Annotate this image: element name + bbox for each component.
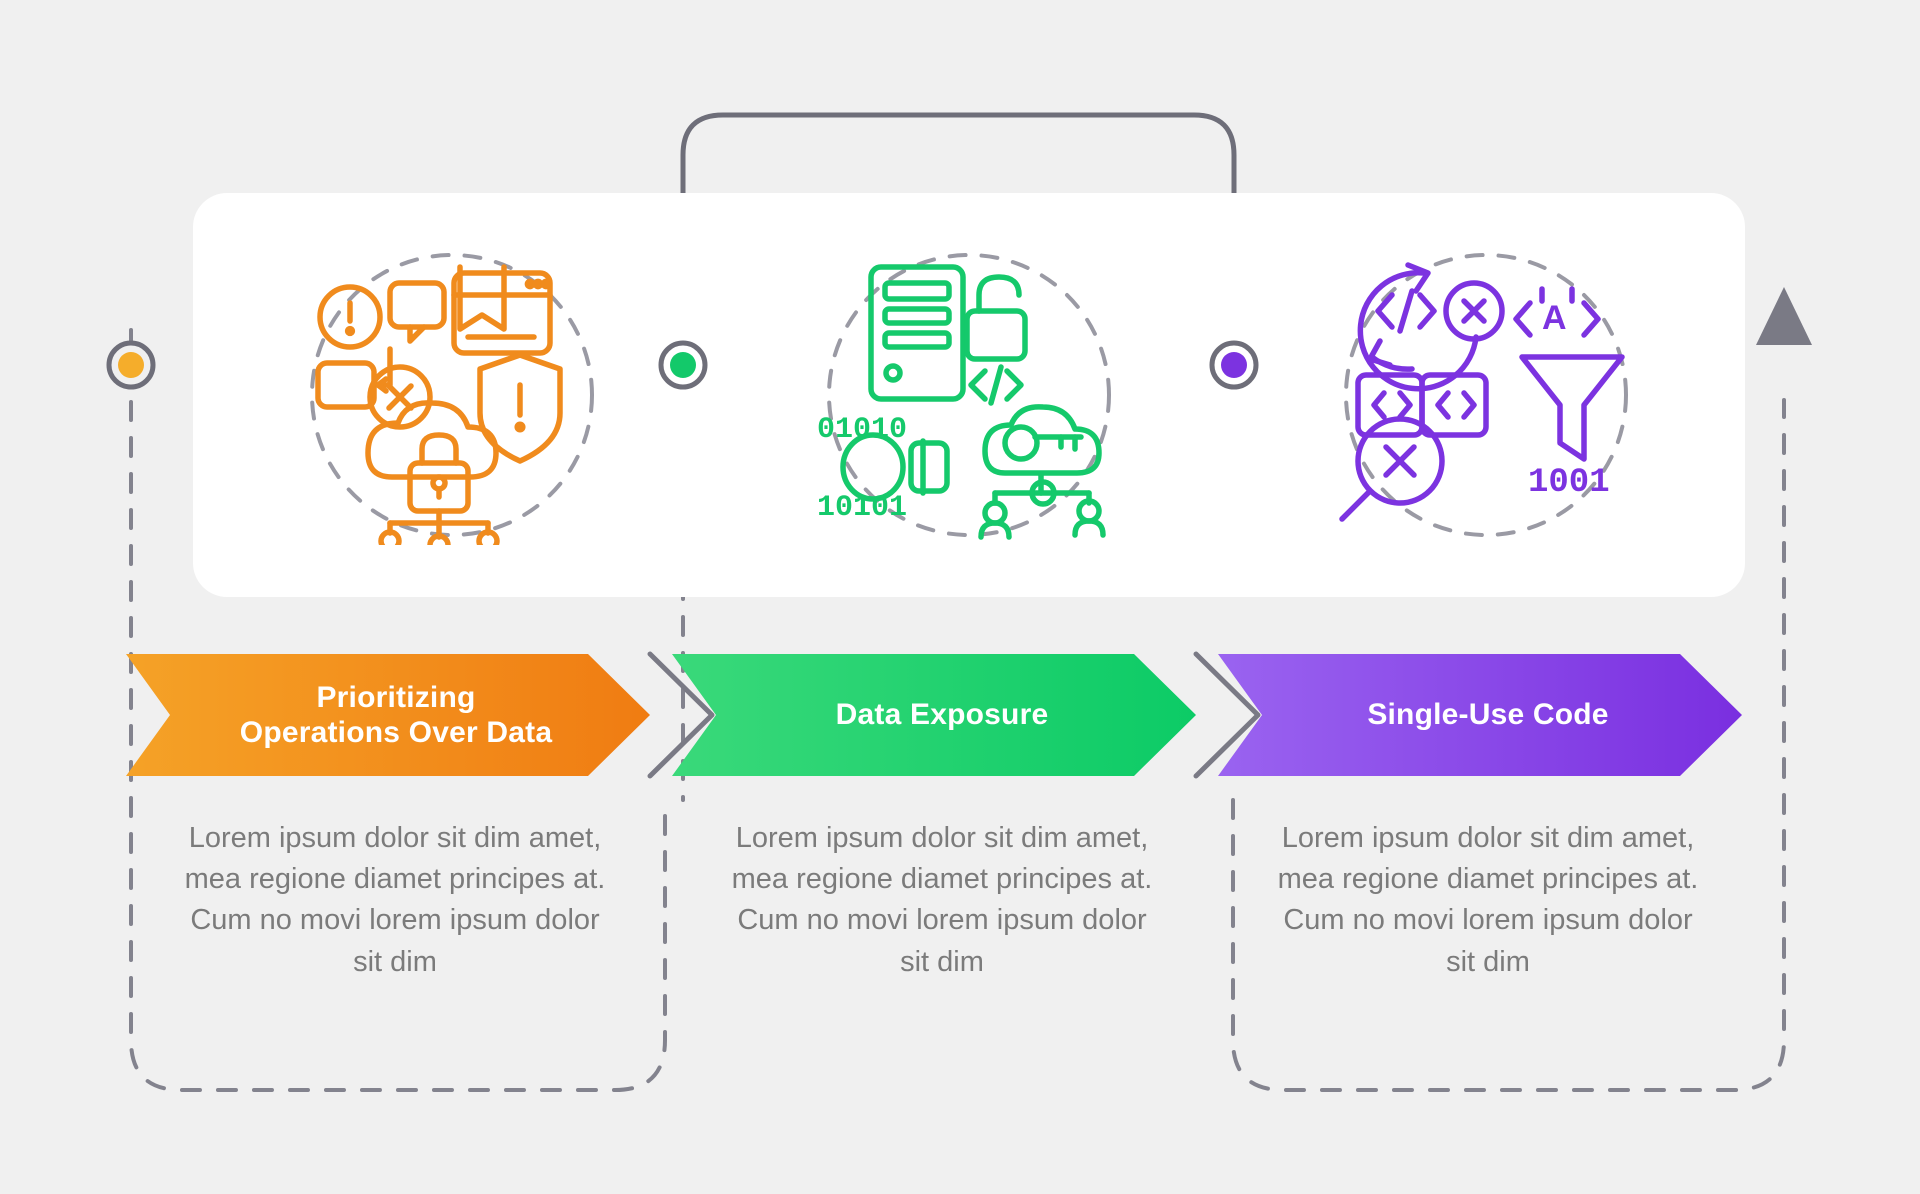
step-banner-2[interactable]: Data Exposure [672, 654, 1196, 776]
infographic-canvas: 01010 10101 [0, 0, 1920, 1194]
chevron-separators-layer [0, 0, 1920, 1194]
step-banner-2-label: Data Exposure [836, 697, 1049, 732]
user-icon [1075, 501, 1103, 535]
step-1-icon [193, 193, 710, 597]
binary-text-icon: 01010 10101 [817, 413, 907, 525]
step-markers-layer [0, 0, 1920, 1194]
cloud-icon [985, 407, 1099, 473]
flow-end-arrow-up [1756, 287, 1812, 345]
code-icon [971, 371, 985, 399]
network-node [479, 532, 497, 545]
process-box-bottom [318, 363, 374, 407]
step-description-3: Lorem ipsum dolor sit dim amet, mea regi… [1268, 818, 1708, 983]
step-description-1: Lorem ipsum dolor sit dim amet, mea regi… [175, 818, 615, 983]
step-banner-1-label: PrioritizingOperations Over Data [240, 680, 552, 751]
code-icon [1378, 295, 1392, 327]
step-marker-orange [109, 343, 153, 387]
process-box-top [390, 283, 444, 327]
binary-label: 1001 [1528, 464, 1610, 502]
key-icon [1005, 427, 1037, 459]
cloud-icon [368, 403, 496, 477]
unlock-icon [967, 311, 1025, 359]
step-3-icon: A 1001 [1227, 193, 1744, 597]
network-node [430, 536, 448, 545]
network-node [381, 532, 399, 545]
step-banner-1[interactable]: PrioritizingOperations Over Data [126, 654, 650, 776]
funnel-icon [1522, 357, 1622, 459]
step-banner-3[interactable]: Single-Use Code [1218, 654, 1742, 776]
step-banner-3-label: Single-Use Code [1367, 697, 1608, 732]
svg-text:A: A [1542, 299, 1567, 337]
step-description-2: Lorem ipsum dolor sit dim amet, mea regi… [722, 818, 1162, 983]
step-2-icon: 01010 10101 [710, 193, 1227, 597]
connector-lines-layer [0, 0, 1920, 1194]
